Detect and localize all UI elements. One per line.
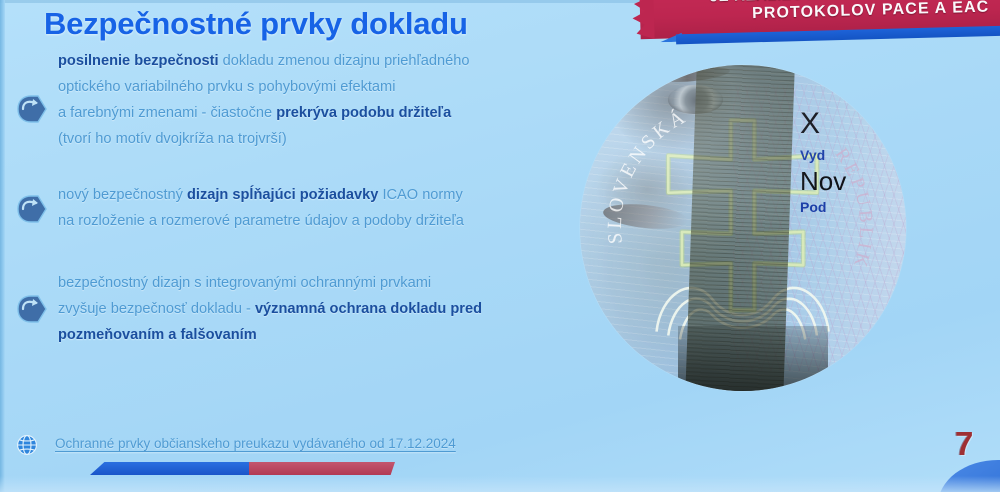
stripe-blue-segment [90, 462, 250, 475]
bullet-text: nový bezpečnostný dizajn spĺňajúci požia… [58, 182, 570, 234]
ribbon-line-2: PROTOKOLOV PACE A EAC [752, 0, 990, 23]
hologram-gloss [580, 65, 906, 391]
bullet-text: bezpečnostný dizajn s integrovanými ochr… [58, 270, 570, 348]
arrow-disc-bullet-icon [14, 94, 48, 124]
arrow-disc-bullet-icon [14, 194, 48, 224]
decorative-stripe [90, 462, 390, 475]
arrow-disc-bullet-icon [14, 294, 48, 324]
presentation-slide: JE REALIZOVANÁ PROTOKOLOV PACE A EAC Bez… [0, 0, 1000, 492]
frame-left-edge [0, 0, 5, 492]
frame-bottom-edge [0, 476, 1000, 492]
id-card-hologram-photo: SLOVENSKÁ REPUBLIKA [580, 65, 906, 391]
footer-source-link[interactable]: Ochranné prvky občianskeho preukazu vydá… [55, 436, 456, 451]
page-number: 7 [955, 425, 973, 463]
page-title: Bezpečnostné prvky dokladu [44, 6, 468, 42]
bullet-text: posilnenie bezpečnosti dokladu zmenou di… [58, 48, 570, 152]
globe-icon [16, 434, 38, 456]
stripe-red-segment [249, 462, 395, 475]
ribbon-torn-edge [623, 0, 654, 40]
